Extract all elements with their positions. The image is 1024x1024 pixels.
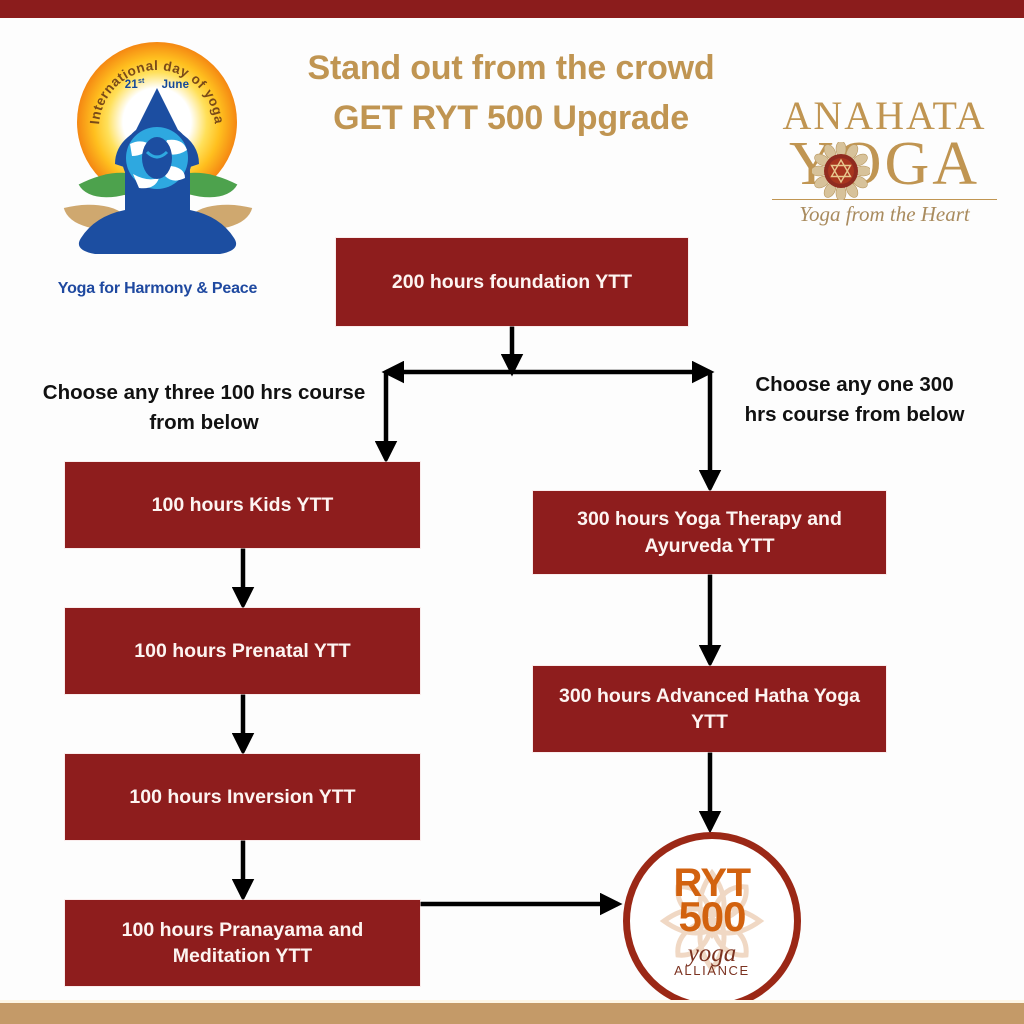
bottom-accent-bar [0,1003,1024,1024]
node-prenatal-ytt[interactable]: 100 hours Prenatal YTT [65,608,420,694]
node-pranayama-meditation-ytt[interactable]: 100 hours Pranayama and Meditation YTT [65,900,420,986]
headline-line-1: Stand out from the crowd [246,44,776,94]
mandala-icon [812,142,870,200]
brand-name-bottom: YOGA [762,132,1007,197]
headline-line-2: GET RYT 500 Upgrade [246,94,776,144]
badge-alliance-label: ALLIANCE [673,965,750,977]
node-pranayama-meditation-ytt-label: 100 hours Pranayama and Meditation YTT [75,917,410,970]
node-yoga-therapy-ayurveda-ytt-label: 300 hours Yoga Therapy and Ayurveda YTT [543,506,876,559]
node-kids-ytt[interactable]: 100 hours Kids YTT [65,462,420,548]
badge-text-block: RYT 500 yoga ALLIANCE [673,865,750,976]
meditating-figure-icon [55,40,260,270]
ryt-500-yoga-alliance-badge[interactable]: RYT 500 yoga ALLIANCE [623,832,801,1010]
brand-tagline: Yoga from the Heart [762,202,1007,227]
node-advanced-hatha-yoga-ytt-label: 300 hours Advanced Hatha Yoga YTT [543,683,876,736]
node-prenatal-ytt-label: 100 hours Prenatal YTT [134,638,350,664]
idy-tagline: Yoga for Harmony & Peace [45,280,270,298]
badge-yoga-label: yoga [673,941,750,966]
node-yoga-therapy-ayurveda-ytt[interactable]: 300 hours Yoga Therapy and Ayurveda YTT [533,491,886,574]
international-day-of-yoga-logo: International day of yoga 21st June [55,40,260,305]
anahata-yoga-logo: ANAHATA YOGA [762,96,1007,246]
page-title: Stand out from the crowd GET RYT 500 Upg… [246,44,776,144]
node-inversion-ytt[interactable]: 100 hours Inversion YTT [65,754,420,840]
badge-500-label: 500 [673,898,750,937]
node-foundation-ytt-label: 200 hours foundation YTT [392,269,632,295]
caption-right-branch: Choose any one 300 hrs course from below [742,370,967,429]
node-inversion-ytt-label: 100 hours Inversion YTT [129,784,355,810]
top-accent-bar [0,0,1024,18]
node-foundation-ytt[interactable]: 200 hours foundation YTT [336,238,688,326]
caption-left-branch: Choose any three 100 hrs course from bel… [34,378,374,437]
brand-divider [772,199,997,200]
node-advanced-hatha-yoga-ytt[interactable]: 300 hours Advanced Hatha Yoga YTT [533,666,886,752]
poster-canvas: International day of yoga 21st June [0,0,1024,1024]
node-kids-ytt-label: 100 hours Kids YTT [152,492,334,518]
